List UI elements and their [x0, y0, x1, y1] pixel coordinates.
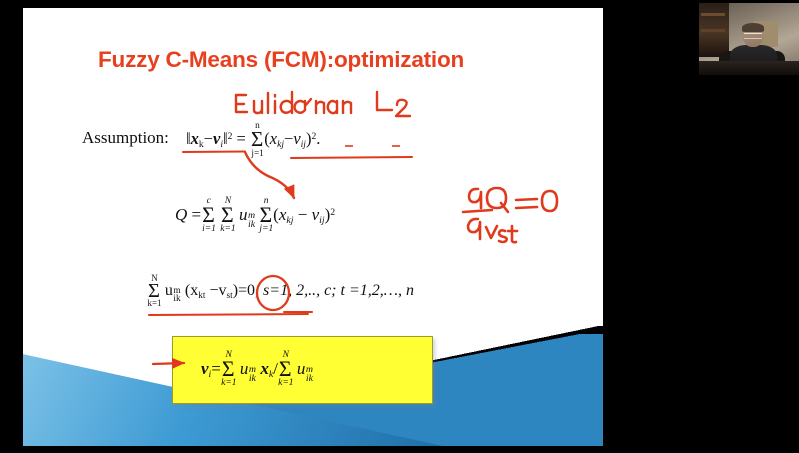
- slide-title: Fuzzy C-Means (FCM):optimization: [98, 47, 464, 73]
- assumption-label: Assumption:: [82, 128, 169, 148]
- minus-sign: −: [204, 129, 213, 148]
- sum-upper-limit: c: [207, 196, 211, 206]
- equation-objective: Q =Σci=1 ΣNk=1 umikΣnj=1(xkj − vij)2: [175, 203, 335, 228]
- x-kt-subscript: kt: [198, 291, 205, 301]
- presenter-webcam-video[interactable]: [699, 3, 799, 75]
- objective-symbol: Q: [175, 205, 187, 224]
- webcam-desk: [699, 61, 799, 75]
- norm-power: 2: [228, 131, 233, 142]
- vector-x: x: [260, 359, 269, 378]
- scalar-v: v: [312, 205, 320, 224]
- term-power: 2: [330, 207, 335, 218]
- u-subscript-ik: ik: [306, 373, 313, 384]
- minus-sign: −: [209, 282, 218, 299]
- term-minus: −: [298, 205, 308, 224]
- equation-assumption: ‖xk−vi‖2 = Σnj=1(xkj−vij)2.: [186, 127, 320, 152]
- centroid-v: v: [201, 359, 209, 378]
- membership-u: u: [297, 359, 306, 378]
- division-slash: /: [273, 359, 278, 378]
- equation-stationarity: ΣNk=1 umik(xkt −vst)=0, s=1, 2,.., c; t …: [147, 280, 414, 303]
- centroid-v: v: [219, 282, 227, 299]
- x-kj-subscript: kj: [277, 139, 284, 150]
- term-minus: −: [284, 129, 293, 148]
- presentation-screen: Fuzzy C-Means (FCM):optimization Assumpt…: [0, 0, 799, 453]
- u-subscript-ik: ik: [248, 219, 255, 230]
- summation-i: Σci=1: [202, 203, 215, 228]
- webcam-presenter-hair: [742, 23, 764, 32]
- sum-lower-limit: j=1: [259, 224, 273, 234]
- sum-lower-limit: k=1: [148, 298, 162, 308]
- u-subscript-ik: ik: [173, 294, 180, 304]
- sum-upper-limit: N: [225, 196, 231, 206]
- x-kj-subscript: kj: [286, 215, 293, 226]
- summation-k: ΣNk=1: [148, 280, 160, 303]
- webcam-shelf-edge: [701, 13, 725, 16]
- vector-x: x: [191, 129, 199, 148]
- equals-sign: =: [237, 129, 246, 148]
- sum-upper-limit: n: [264, 196, 269, 206]
- membership-u: u: [165, 282, 173, 299]
- membership-u: u: [240, 359, 249, 378]
- summation-j: Σnj=1: [251, 127, 263, 152]
- scalar-v: v: [293, 129, 300, 148]
- index-range-t: t =1,2,…, n: [341, 282, 414, 299]
- summation-denominator: ΣNk=1: [279, 357, 292, 382]
- sum-upper-limit: N: [151, 273, 157, 283]
- index-range-s: s=1, 2,.., c;: [263, 282, 336, 299]
- webcam-presenter-glasses: [744, 33, 762, 39]
- sum-upper-limit: n: [255, 120, 260, 130]
- sum-lower-limit: i=1: [202, 224, 216, 234]
- scalar-x: x: [270, 129, 277, 148]
- summation-j: Σnj=1: [259, 203, 272, 228]
- u-subscript-ik: ik: [249, 373, 256, 384]
- sum-lower-limit: k=1: [221, 378, 236, 388]
- summation-k: ΣNk=1: [221, 203, 234, 228]
- equals-zero: =0,: [238, 282, 259, 299]
- sum-lower-limit: k=1: [220, 224, 235, 234]
- equals-sign: =: [211, 359, 221, 378]
- sum-lower-limit: j=1: [251, 148, 263, 158]
- membership-u: u: [239, 205, 248, 224]
- slide-canvas: Fuzzy C-Means (FCM):optimization Assumpt…: [23, 8, 603, 446]
- sum-upper-limit: N: [226, 350, 232, 360]
- equals-sign: =: [192, 205, 202, 224]
- sum-lower-limit: k=1: [278, 378, 293, 388]
- sum-upper-limit: N: [283, 350, 289, 360]
- summation-numerator: ΣNk=1: [222, 357, 235, 382]
- period: .: [316, 129, 320, 148]
- webcam-shelf-edge-lower: [701, 29, 725, 32]
- equation-centroid-update: vi=ΣNk=1 umikxk/ΣNk=1 umik: [201, 357, 305, 382]
